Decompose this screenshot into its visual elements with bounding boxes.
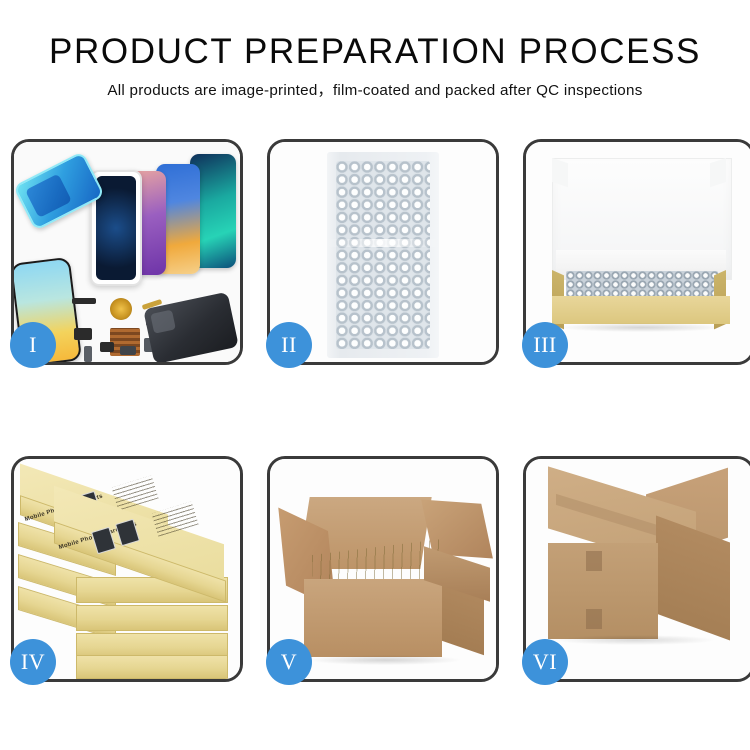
box-spec-lines <box>151 501 198 536</box>
spare-part <box>72 298 96 304</box>
carton-front-panel <box>548 543 658 639</box>
bubble-wrap-bag <box>327 152 439 358</box>
process-steps-grid: I II II <box>11 139 739 682</box>
step-panel-3: III <box>523 139 750 365</box>
step-badge-2: II <box>266 322 312 368</box>
bubble-wrap-sheen <box>327 239 439 247</box>
step-panel-6: VI <box>523 456 750 682</box>
step-panel-5: V <box>267 456 499 682</box>
inner-box-bubble-wrap <box>566 271 718 297</box>
drop-shadow <box>560 323 722 332</box>
carton-handle-notch <box>586 551 602 571</box>
inner-box-lid-flap-left <box>552 158 568 187</box>
spare-part <box>84 346 92 362</box>
gold-component <box>110 298 132 320</box>
spare-part <box>100 342 114 352</box>
drop-shadow <box>556 635 714 645</box>
step-panel-2: II <box>267 139 499 365</box>
kraft-box <box>76 655 228 679</box>
carton-front-panel <box>304 579 442 657</box>
kraft-box <box>76 605 228 631</box>
product-preparation-infographic: PRODUCT PREPARATION PROCESS All products… <box>0 0 750 750</box>
spare-part <box>120 346 136 355</box>
step-badge-1: I <box>10 322 56 368</box>
drop-shadow <box>310 655 460 665</box>
step-badge-4: IV <box>10 639 56 685</box>
spare-part <box>74 328 92 340</box>
carton-handle-notch <box>586 609 602 629</box>
inner-box-front <box>552 296 730 324</box>
page-subtitle: All products are image-printed，film-coat… <box>0 81 750 101</box>
step-badge-3: III <box>522 322 568 368</box>
box-spec-lines <box>111 475 158 510</box>
page-title: PRODUCT PREPARATION PROCESS <box>0 32 750 72</box>
step-panel-4: Mobile Phone Spare Parts Mobile Phone Sp… <box>11 456 243 682</box>
bubble-wrap-texture <box>336 161 430 349</box>
step-panel-1: I <box>11 139 243 365</box>
step-badge-5: V <box>266 639 312 685</box>
header: PRODUCT PREPARATION PROCESS All products… <box>0 32 750 101</box>
step-badge-6: VI <box>522 639 568 685</box>
